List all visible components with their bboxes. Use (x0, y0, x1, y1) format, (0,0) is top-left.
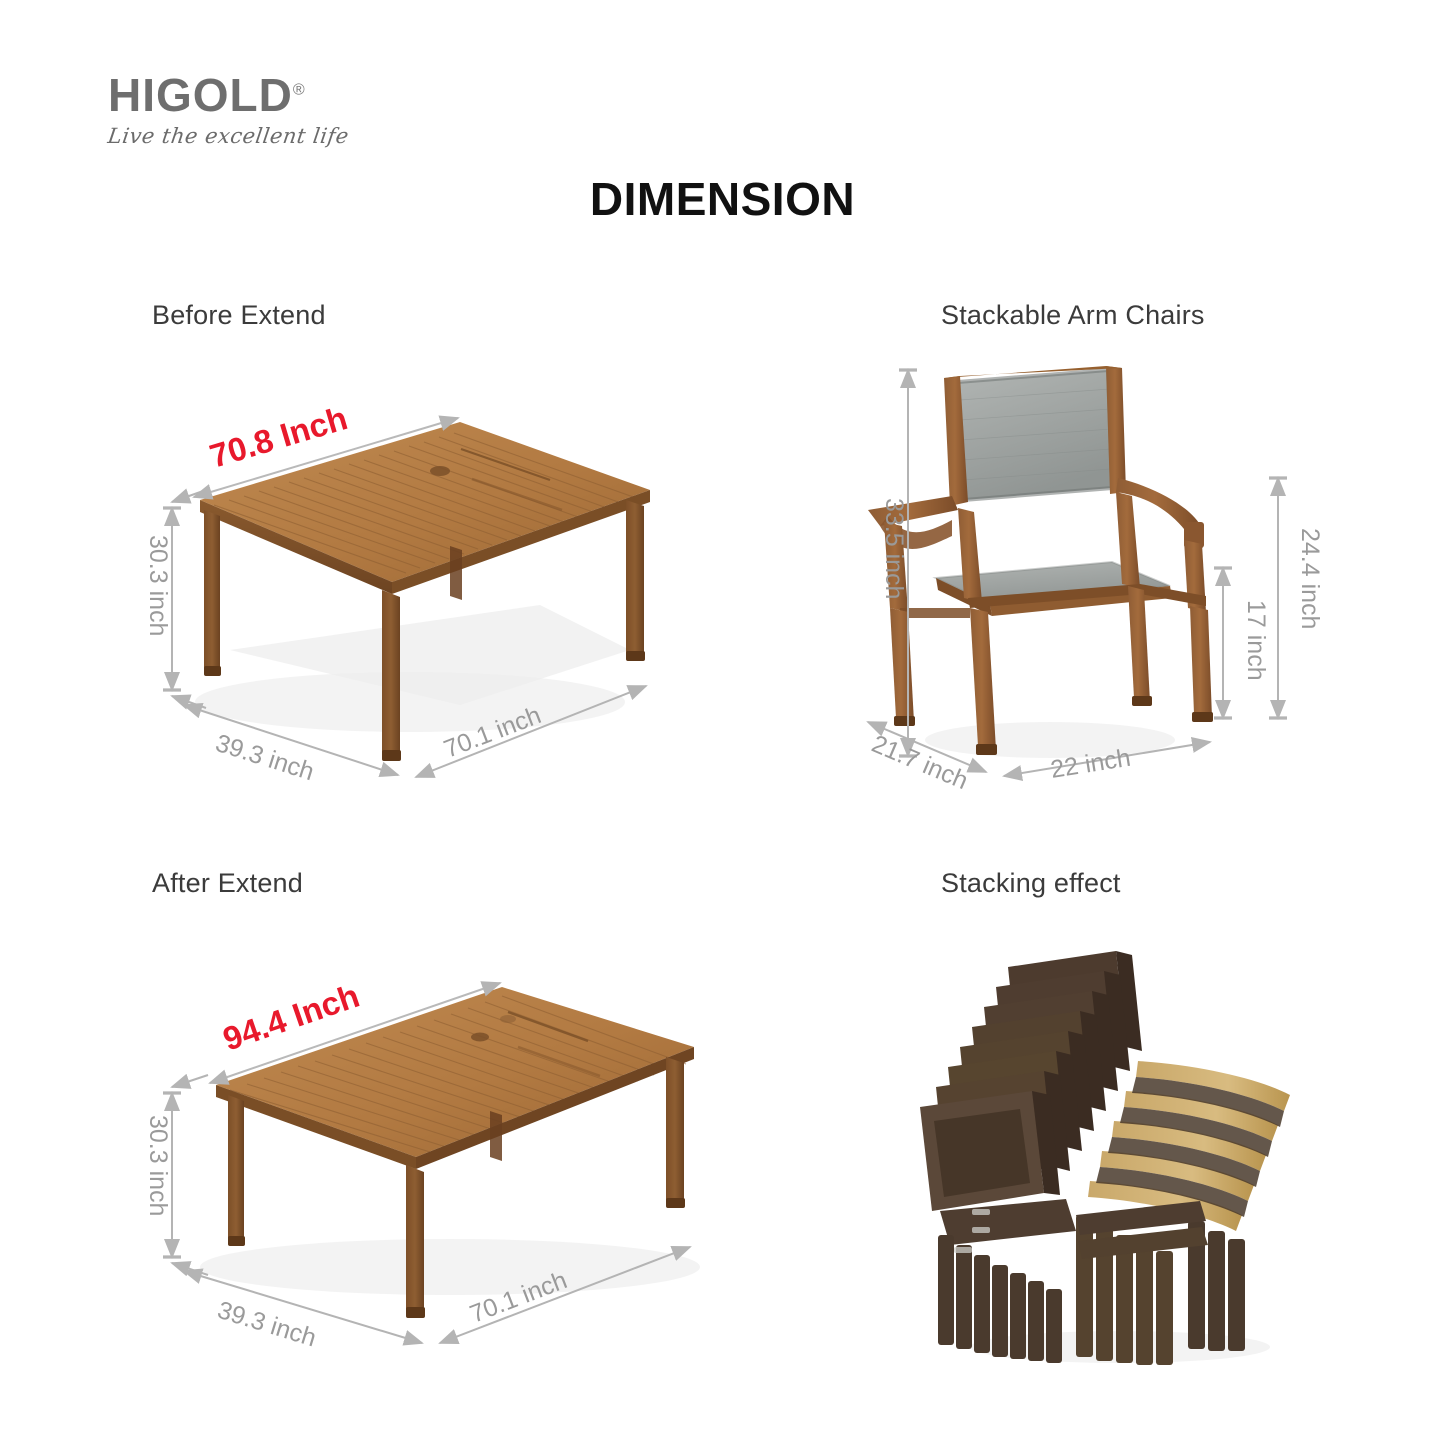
dim-table-after-width: 39.3 inch (214, 1296, 319, 1352)
brand-name: HIGOLD® (108, 72, 438, 118)
brand-name-text: HIGOLD (108, 69, 293, 121)
diagram-table-after-extend: 94.4 Inch 30.3 inch 39.3 inch 70.1 inch (110, 915, 750, 1385)
dim-table-before-width: 39.3 inch (212, 729, 317, 786)
diagram-stackable-arm-chair: 33.5 inch 24.4 inch 17 inch 21.7 inch 22… (840, 350, 1360, 820)
registered-trademark-icon: ® (293, 82, 306, 99)
section-label-stackable-chairs: Stackable Arm Chairs (941, 300, 1205, 331)
dim-chair-seat-height: 17 inch (1242, 600, 1270, 681)
dim-table-after-height: 30.3 inch (144, 1115, 172, 1216)
dim-chair-overall-height: 33.5 inch (880, 498, 908, 599)
page-title: DIMENSION (0, 172, 1445, 226)
diagram-stacking-effect (880, 915, 1350, 1385)
section-label-before-extend: Before Extend (152, 300, 326, 331)
section-label-after-extend: After Extend (152, 868, 303, 899)
brand-logo: HIGOLD® Live the excellent life (108, 72, 438, 172)
dim-table-before-height: 30.3 inch (144, 535, 172, 636)
stack-legs (938, 1199, 1245, 1365)
section-label-stacking-effect: Stacking effect (941, 868, 1121, 899)
diagram-table-before-extend: 70.8 Inch 30.3 inch 39.3 inch 70.1 inch (110, 350, 710, 820)
dim-chair-back-height: 24.4 inch (1296, 528, 1324, 629)
brand-tagline: Live the excellent life (106, 124, 439, 148)
dimension-sheet: HIGOLD® Live the excellent life DIMENSIO… (0, 0, 1445, 1445)
